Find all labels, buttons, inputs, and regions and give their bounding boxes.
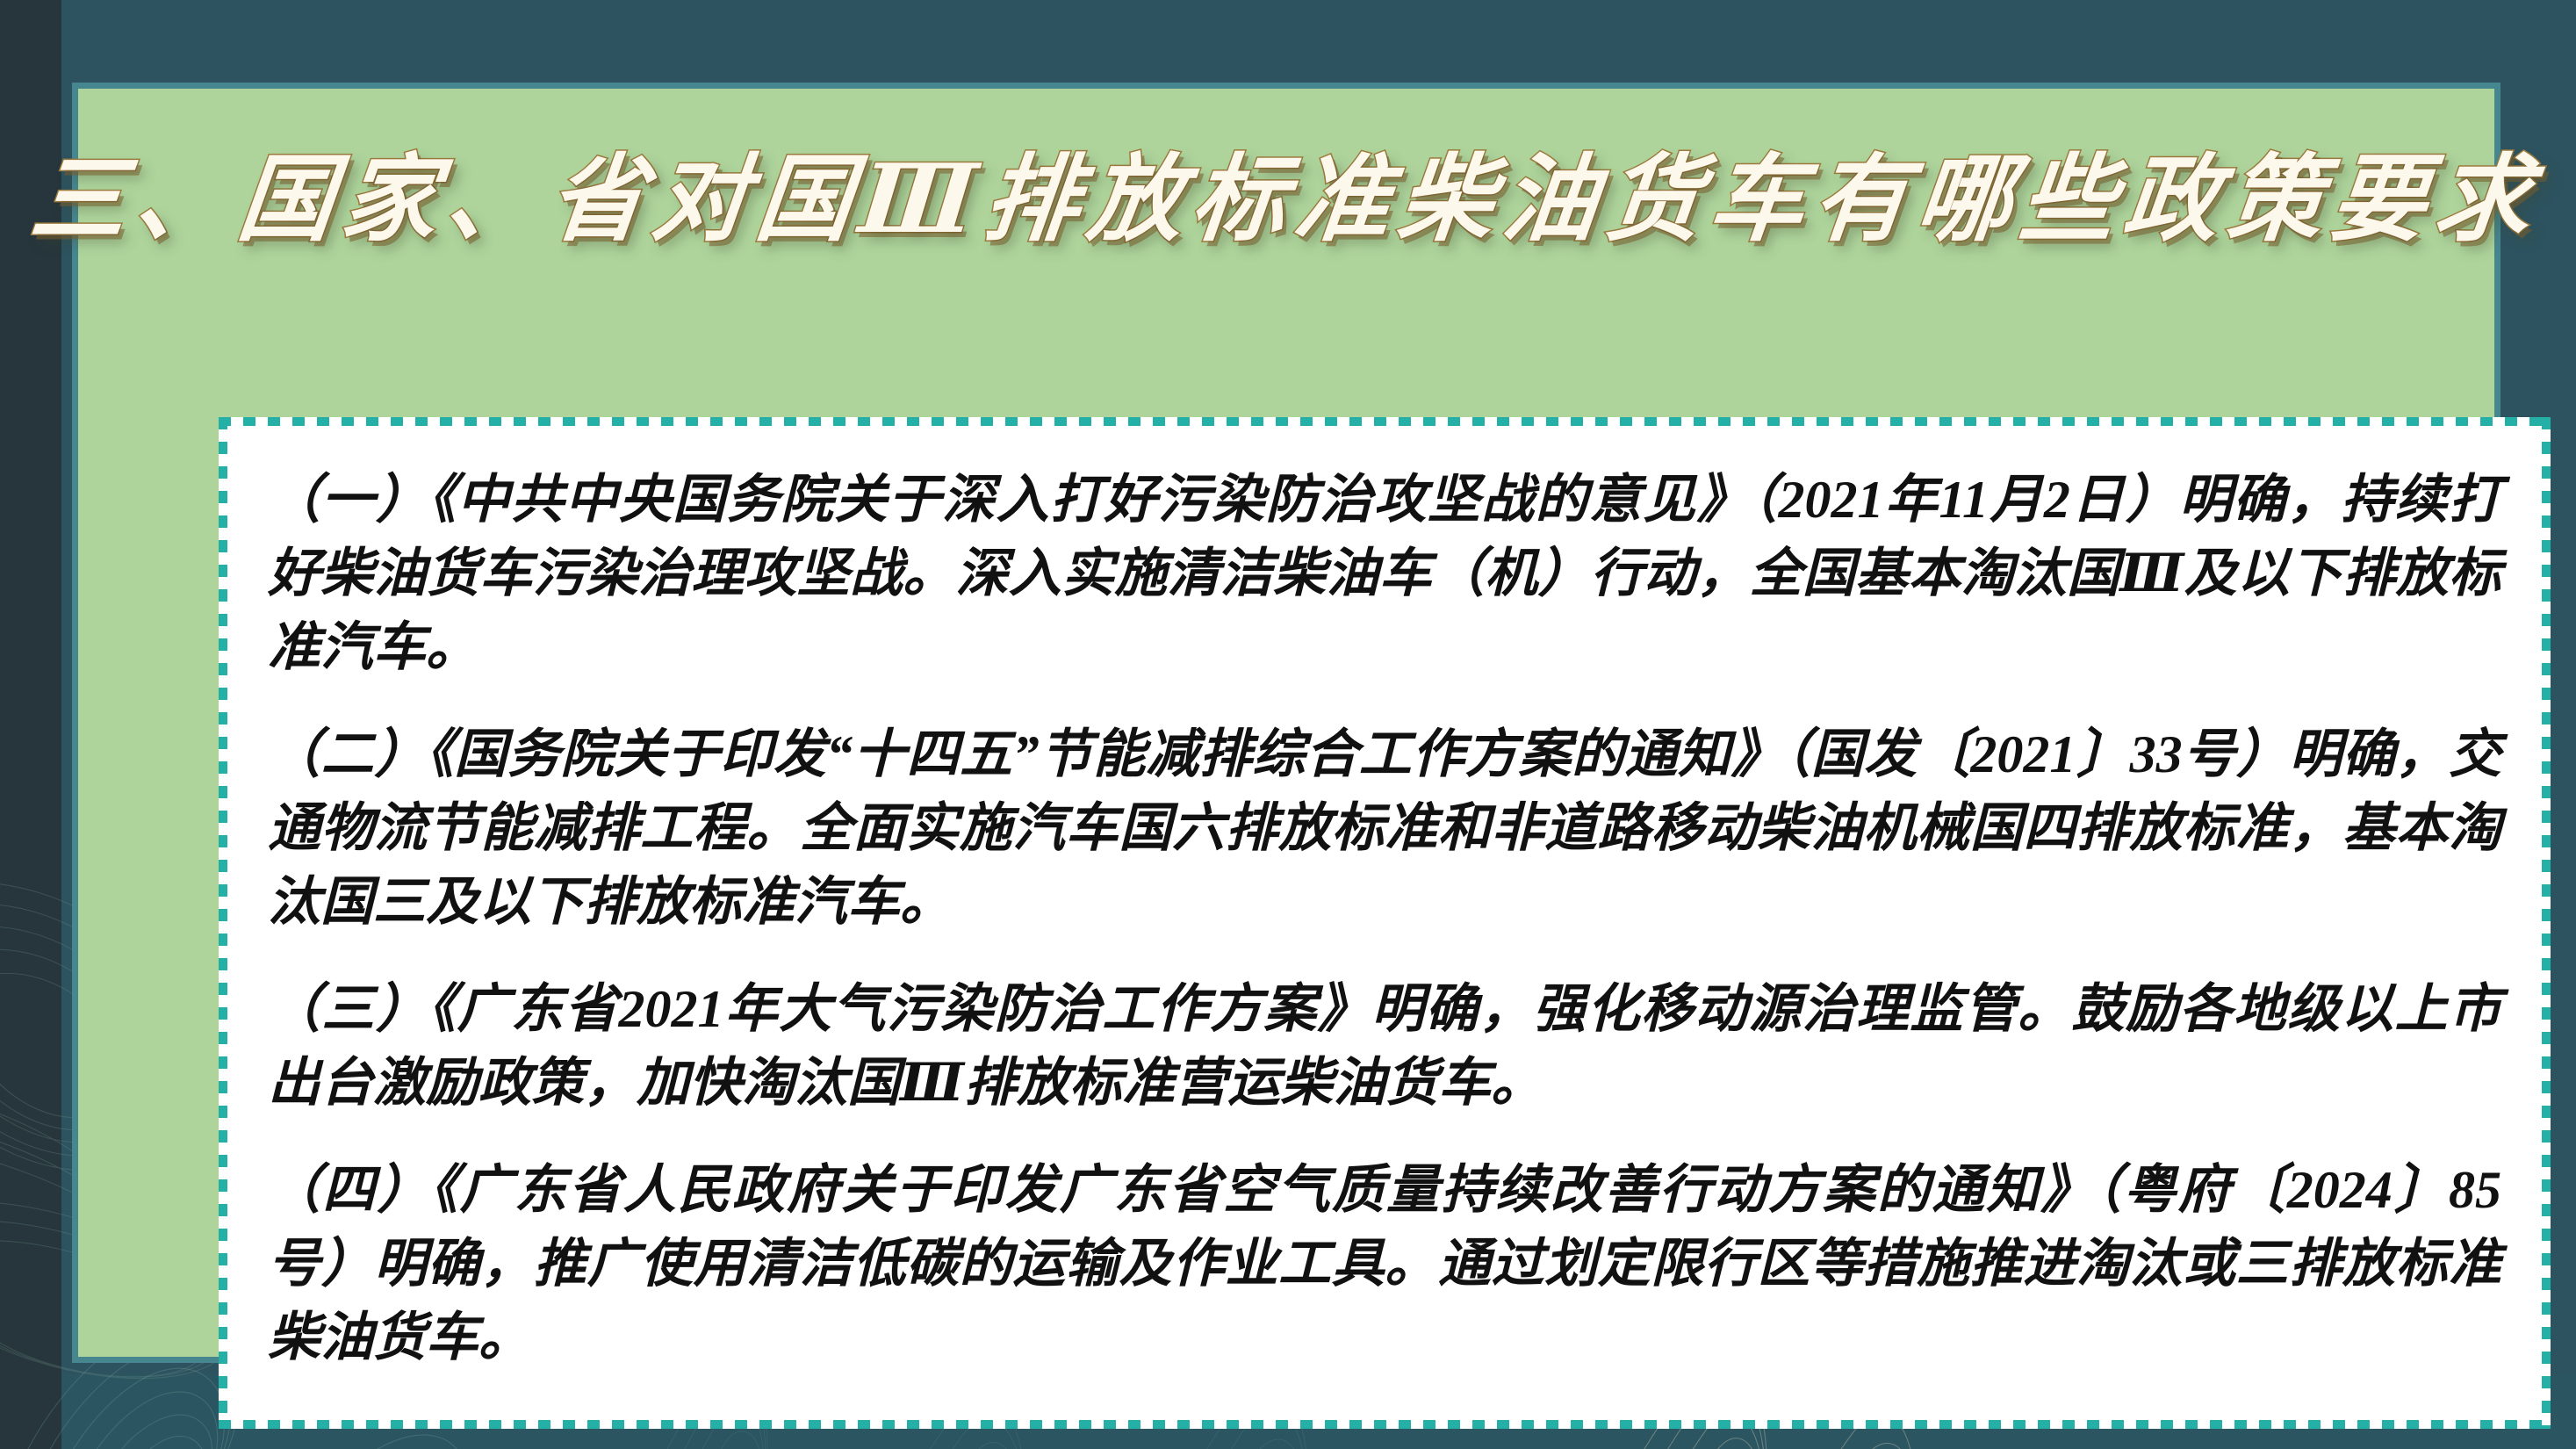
policy-paragraph-4: （四）《广东省人民政府关于印发广东省空气质量持续改善行动方案的通知》（粤府〔20… xyxy=(268,1153,2501,1374)
page-title-container: 三、国家、省对国Ⅲ排放标准柴油货车有哪些政策要求 xyxy=(78,108,2494,275)
content-panel: 三、国家、省对国Ⅲ排放标准柴油货车有哪些政策要求 （一）《中共中央国务院关于深入… xyxy=(72,83,2500,1363)
policy-text-inner: （一）《中共中央国务院关于深入打好污染防治攻坚战的意见》（2021年11月2日）… xyxy=(227,426,2542,1420)
slide-root: 三、国家、省对国Ⅲ排放标准柴油货车有哪些政策要求 （一）《中共中央国务院关于深入… xyxy=(0,0,2576,1449)
policy-paragraph-3: （三）《广东省2021年大气污染防治工作方案》明确，强化移动源治理监管。鼓励各地… xyxy=(268,972,2501,1120)
policy-paragraph-1: （一）《中共中央国务院关于深入打好污染防治攻坚战的意见》（2021年11月2日）… xyxy=(268,463,2501,684)
policy-text-box: （一）《中共中央国务院关于深入打好污染防治攻坚战的意见》（2021年11月2日）… xyxy=(219,417,2551,1429)
page-title: 三、国家、省对国Ⅲ排放标准柴油货车有哪些政策要求 xyxy=(25,123,2547,260)
policy-paragraph-2: （二）《国务院关于印发“十四五”节能减排综合工作方案的通知》（国发〔2021〕3… xyxy=(268,717,2501,939)
